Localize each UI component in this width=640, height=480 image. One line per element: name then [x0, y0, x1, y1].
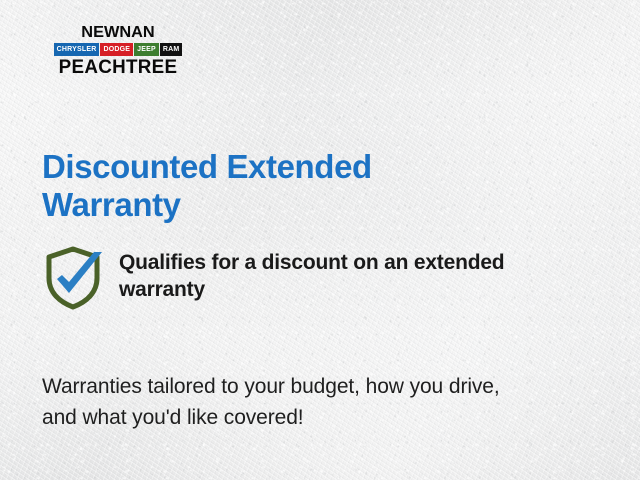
offer-description: Warranties tailored to your budget, how …: [42, 371, 522, 433]
slide-content: Newnan CHRYSLER DODGE JEEP RAM PEACHTREE…: [0, 0, 640, 480]
brand-badge-dodge: DODGE: [100, 43, 133, 56]
benefit-description: Qualifies for a discount on an extended …: [119, 243, 542, 303]
benefit-row: Qualifies for a discount on an extended …: [42, 243, 542, 311]
brand-badge-chrysler: CHRYSLER: [54, 43, 100, 56]
shield-check-icon: [42, 245, 104, 311]
logo-newnan-wordmark: Newnan: [38, 18, 197, 41]
page-title: Discounted Extended Warranty: [42, 148, 512, 224]
brand-badge-ram: RAM: [160, 43, 183, 56]
dealer-logo[interactable]: Newnan CHRYSLER DODGE JEEP RAM PEACHTREE: [40, 18, 196, 77]
brand-badge-jeep: JEEP: [134, 43, 159, 56]
brand-badge-bar: CHRYSLER DODGE JEEP RAM: [40, 43, 196, 56]
logo-peachtree-wordmark: PEACHTREE: [41, 58, 195, 77]
promo-slide: Newnan CHRYSLER DODGE JEEP RAM PEACHTREE…: [0, 0, 640, 480]
